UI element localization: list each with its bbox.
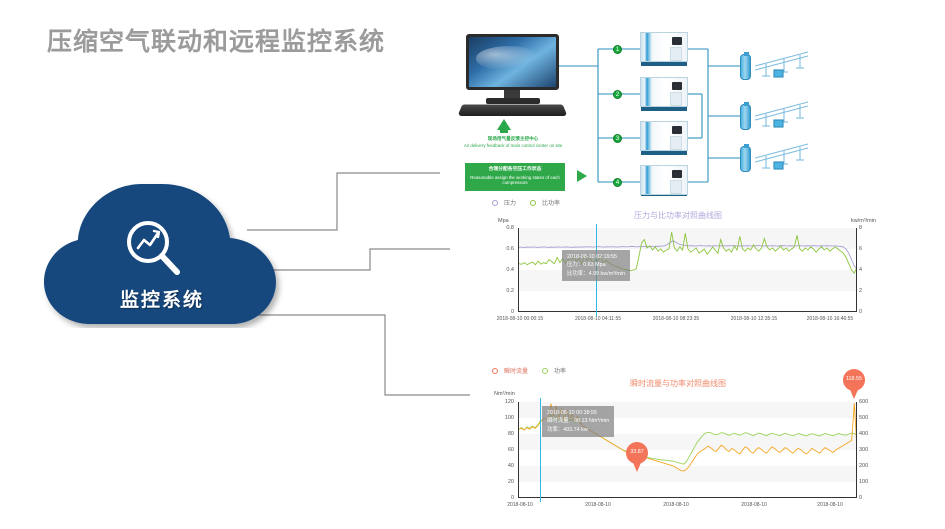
legend-item-flow[interactable]: 瞬时流量 [488,366,528,375]
green-status-box: 合理分配各空压工作状态 Reasonable assign the workin… [465,163,565,191]
diagram-caption-cn: 现场用气量反馈主控中心 [488,136,539,141]
chart2-ytick: 0 [492,495,514,501]
air-tank-icon [740,104,751,130]
chart2-right-axis [856,402,857,498]
chart2-y2tick: 200 [859,463,881,469]
chart2-ytick: 80 [492,431,514,437]
chart2-xtick: 2018-08-10 [568,502,628,509]
chart1-y2tick: 0 [859,309,881,315]
air-tank-icon [740,54,751,80]
compressor-unit [640,32,688,66]
chart2-y2tick: 400 [859,431,881,437]
chart2-xtick: 2018-08-10 [490,502,550,509]
compressor-body [640,32,688,62]
tooltip-line: 功率：493.74 kw [547,426,609,434]
node-dot: 4 [613,178,622,187]
chart1-xtick: 2018-08-10 12:35:15 [724,316,784,323]
system-diagram-panel: 现场用气量反馈主控中心 Air delivery feedback of mai… [440,18,940,210]
legend-label: 比功率 [542,198,560,207]
pin-label: 33.87 [626,442,648,464]
chart2-tooltip: 2018-08-10 00:38:55 瞬时流量：98.13 Nm³/min 功… [542,406,614,437]
compressor-unit [640,121,688,155]
chart2-ytick: 120 [492,399,514,405]
chart2-y2tick: 0 [859,495,881,501]
chart2-xtick: 2018-08-10 [646,502,706,509]
chart1-ytick: 0.8 [492,225,514,231]
tooltip-time: 2018-08-10 00:38:55 [547,409,609,417]
cloud-label: 监控系统 [38,285,286,312]
chart1-y2tick: 8 [859,225,881,231]
chart1-tooltip: 2018-08-10 02:19:55 压力：0.63 Mpa 比功率：4.99… [562,250,630,281]
legend-item-pressure[interactable]: 压力 [488,198,516,207]
chart1-ytick: 0.6 [492,246,514,252]
compressor-base [641,62,687,66]
legend-label: 功率 [554,366,566,375]
compressor-body [640,165,688,195]
legend-line-icon [538,370,551,372]
compressor-base [641,107,687,111]
pin-label: 118.55 [843,369,865,391]
legend-line-icon [526,202,539,204]
green-box-cn: 合理分配各空压工作状态 [489,167,542,172]
chart1-legend: 压力 比功率 [488,198,560,207]
monitor-screen [466,34,559,90]
green-box-en: Reasonable assign the working states of … [465,175,565,186]
page-title: 压缩空气联动和远程监控系统 [47,22,385,58]
tooltip-line: 压力：0.63 Mpa [567,261,625,269]
chart2-ytick: 60 [492,447,514,453]
chart1-xtick: 2018-08-10 08:23:35 [646,316,706,323]
chart1-xtick: 2018-08-10 16:46:55 [800,316,860,323]
monitor-base [486,98,540,104]
chart1-ytick: 0 [492,309,514,315]
chart2-marker-pin[interactable]: 118.55 [843,369,865,399]
node-dot: 1 [613,45,622,54]
compressor-unit [640,165,688,199]
legend-item-power[interactable]: 功率 [538,366,566,375]
air-tank-icon [740,146,751,172]
tooltip-line: 比功率：4.99 kw/m³/min [567,270,625,278]
right-arrow-icon [577,170,587,182]
flow-power-chart-panel: 瞬时流量 功率 瞬时流量与功率对照曲线图 Nm³/min 0 20 40 60 … [478,360,878,528]
diagram-caption-en: Air delivery feedback of main control ce… [453,143,573,149]
diagram-caption: 现场用气量反馈主控中心 Air delivery feedback of mai… [453,136,573,148]
magnifier-chart-icon [120,218,186,280]
node-dot: 2 [613,90,622,99]
compressor-base [641,151,687,155]
tooltip-time: 2018-08-10 02:19:55 [567,253,625,261]
up-arrow-stem [500,128,508,133]
chart2-ylabel: Nm³/min [494,391,515,397]
chart2-title: 瞬时流量与功率对照曲线图 [478,378,878,389]
compressor-body [640,77,688,107]
chart1-ytick: 0.2 [492,288,514,294]
chart2-marker-pin[interactable]: 33.87 [626,442,648,472]
keyboard-icon [457,105,567,116]
chart2-ytick: 100 [492,415,514,421]
chart1-xtick: 2018-08-10 00:00:15 [490,316,550,323]
legend-label: 瞬时流量 [504,366,528,375]
chart2-legend: 瞬时流量 功率 [488,366,566,375]
chart1-title: 压力与比功率对照曲线图 [478,210,878,221]
legend-item-specific-power[interactable]: 比功率 [526,198,560,207]
legend-label: 压力 [504,198,516,207]
chart1-ytick: 0.4 [492,267,514,273]
chart1-y2tick: 2 [859,288,881,294]
chart2-y2tick: 300 [859,447,881,453]
chart1-right-axis [856,228,857,312]
chart2-y2tick: 600 [859,399,881,405]
pressure-power-chart-panel: 压力 比功率 压力与比功率对照曲线图 Mpa kw/m³/min 0 0.2 0… [478,196,878,336]
chart2-ytick: 20 [492,479,514,485]
legend-line-icon [488,202,501,204]
chart1-y2tick: 4 [859,267,881,273]
compressor-body [640,121,688,151]
chart1-xtick: 2018-08-10 04:11:55 [568,316,628,323]
legend-line-icon [488,370,501,372]
desktop-monitor-icon [460,34,565,116]
tooltip-line: 瞬时流量：98.13 Nm³/min [547,417,609,425]
compressor-unit [640,77,688,111]
node-dot: 3 [613,134,622,143]
chart2-xtick: 2018-08-10 [724,502,784,509]
chart1-ylabel: Mpa [498,218,509,224]
chart2-ytick: 40 [492,463,514,469]
chart2-xtick: 2018-08-10 [800,502,860,509]
chart2-y2tick: 100 [859,479,881,485]
chart2-y2tick: 500 [859,415,881,421]
chart1-y2label: kw/m³/min [851,218,876,224]
chart1-y2tick: 6 [859,246,881,252]
